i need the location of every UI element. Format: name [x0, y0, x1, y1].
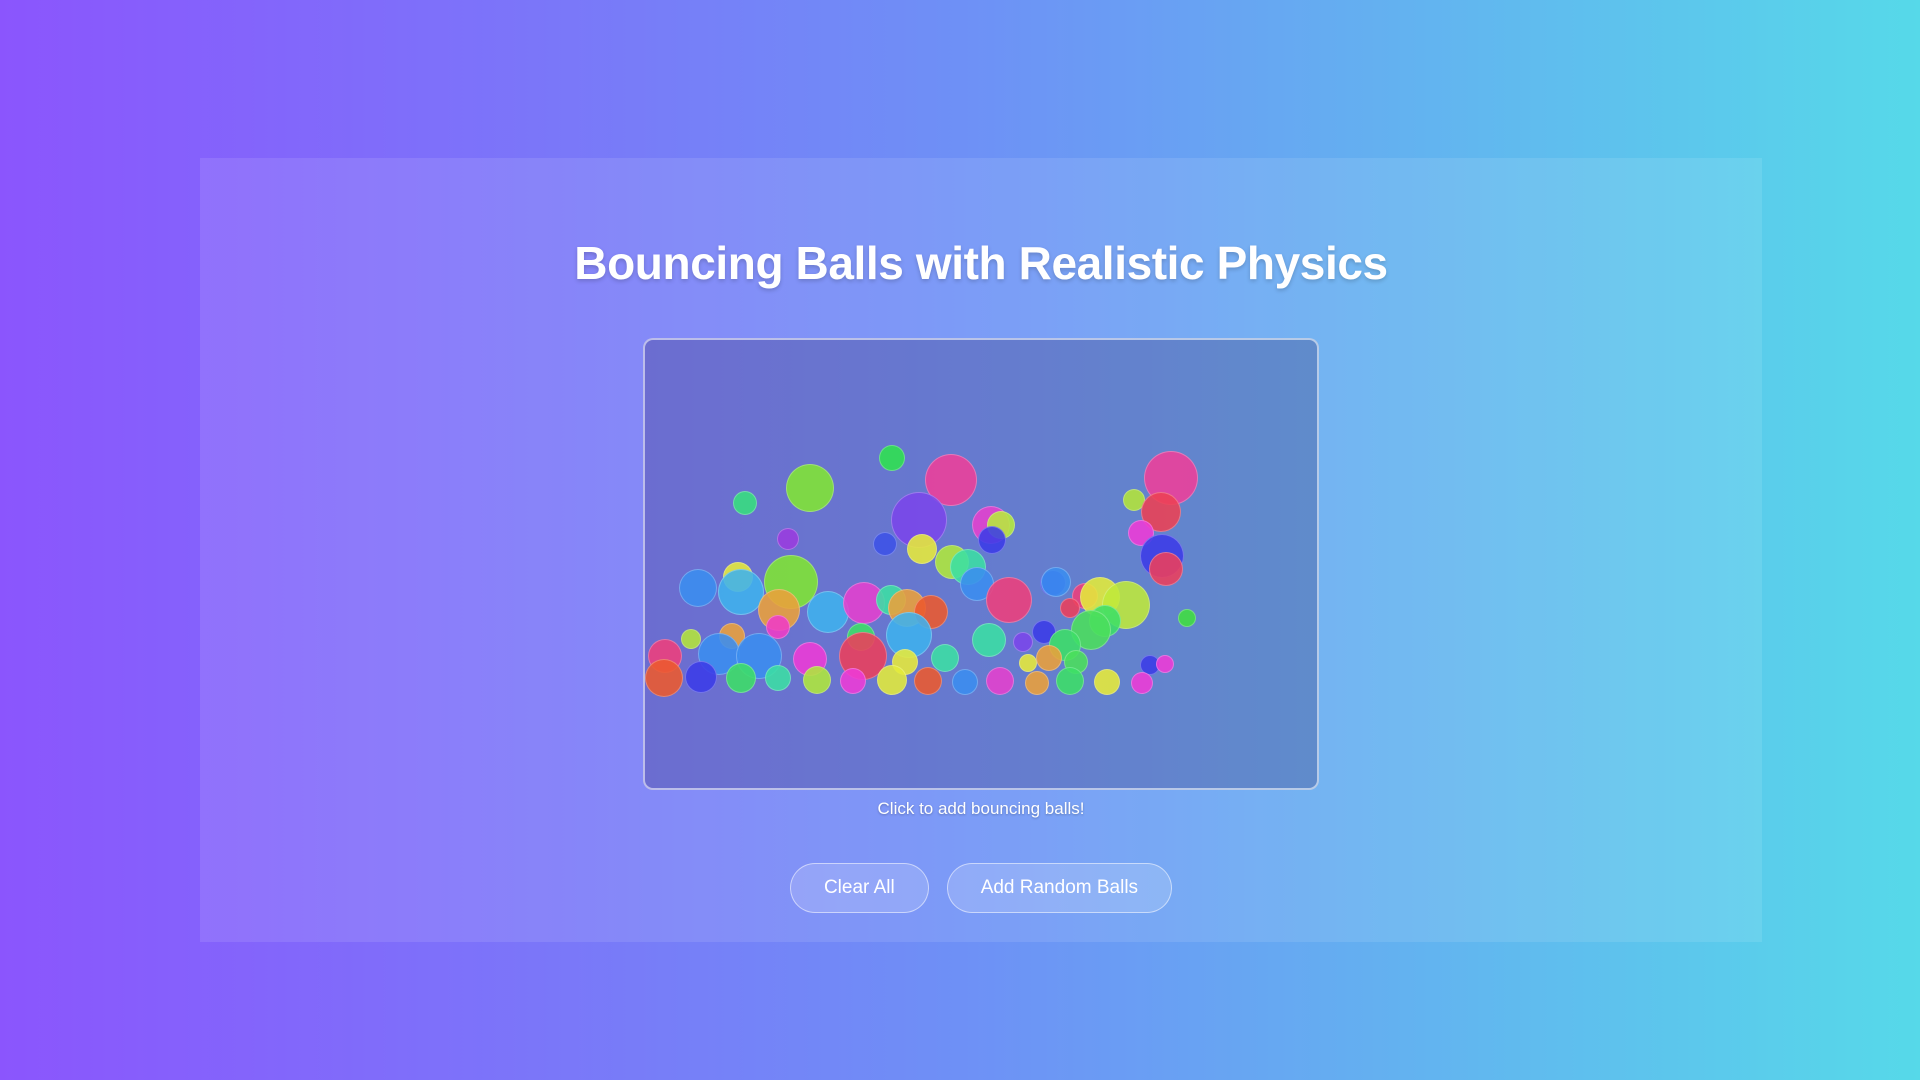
bouncing-ball	[765, 665, 791, 691]
bouncing-ball	[986, 577, 1032, 623]
bouncing-ball	[1131, 672, 1153, 694]
bouncing-ball	[1013, 632, 1033, 652]
clear-all-button[interactable]: Clear All	[790, 863, 929, 913]
app-card: Bouncing Balls with Realistic Physics Cl…	[200, 158, 1762, 942]
add-random-balls-button[interactable]: Add Random Balls	[947, 863, 1172, 913]
canvas-wrapper	[643, 338, 1319, 790]
bouncing-ball	[952, 669, 978, 695]
bouncing-ball	[1019, 654, 1037, 672]
bouncing-ball	[840, 668, 866, 694]
bouncing-ball	[645, 659, 683, 697]
bouncing-ball	[1156, 655, 1174, 673]
bouncing-ball	[1041, 567, 1071, 597]
bouncing-ball	[726, 663, 756, 693]
bouncing-ball	[972, 623, 1006, 657]
bouncing-ball	[914, 667, 942, 695]
bouncing-ball	[685, 661, 717, 693]
bouncing-ball	[978, 526, 1006, 554]
canvas-hint-text: Click to add bouncing balls!	[878, 799, 1085, 819]
bouncing-ball	[1056, 667, 1084, 695]
bouncing-ball	[877, 665, 907, 695]
bouncing-ball	[1036, 645, 1062, 671]
page-title: Bouncing Balls with Realistic Physics	[574, 236, 1387, 290]
bouncing-ball	[679, 569, 717, 607]
bouncing-ball	[986, 667, 1014, 695]
bouncing-ball	[1094, 669, 1120, 695]
bouncing-ball	[803, 666, 831, 694]
controls-row: Clear All Add Random Balls	[790, 863, 1172, 913]
bouncing-ball	[1149, 552, 1183, 586]
bouncing-ball	[681, 629, 701, 649]
bouncing-ball	[931, 644, 959, 672]
bouncing-ball	[777, 528, 799, 550]
bouncing-ball	[1178, 609, 1196, 627]
bouncing-ball	[873, 532, 897, 556]
bouncing-ball	[879, 445, 905, 471]
bouncing-ball	[786, 464, 834, 512]
bouncing-ball	[1025, 671, 1049, 695]
bouncing-ball	[907, 534, 937, 564]
bouncing-balls-canvas[interactable]	[643, 338, 1319, 790]
bouncing-ball	[733, 491, 757, 515]
